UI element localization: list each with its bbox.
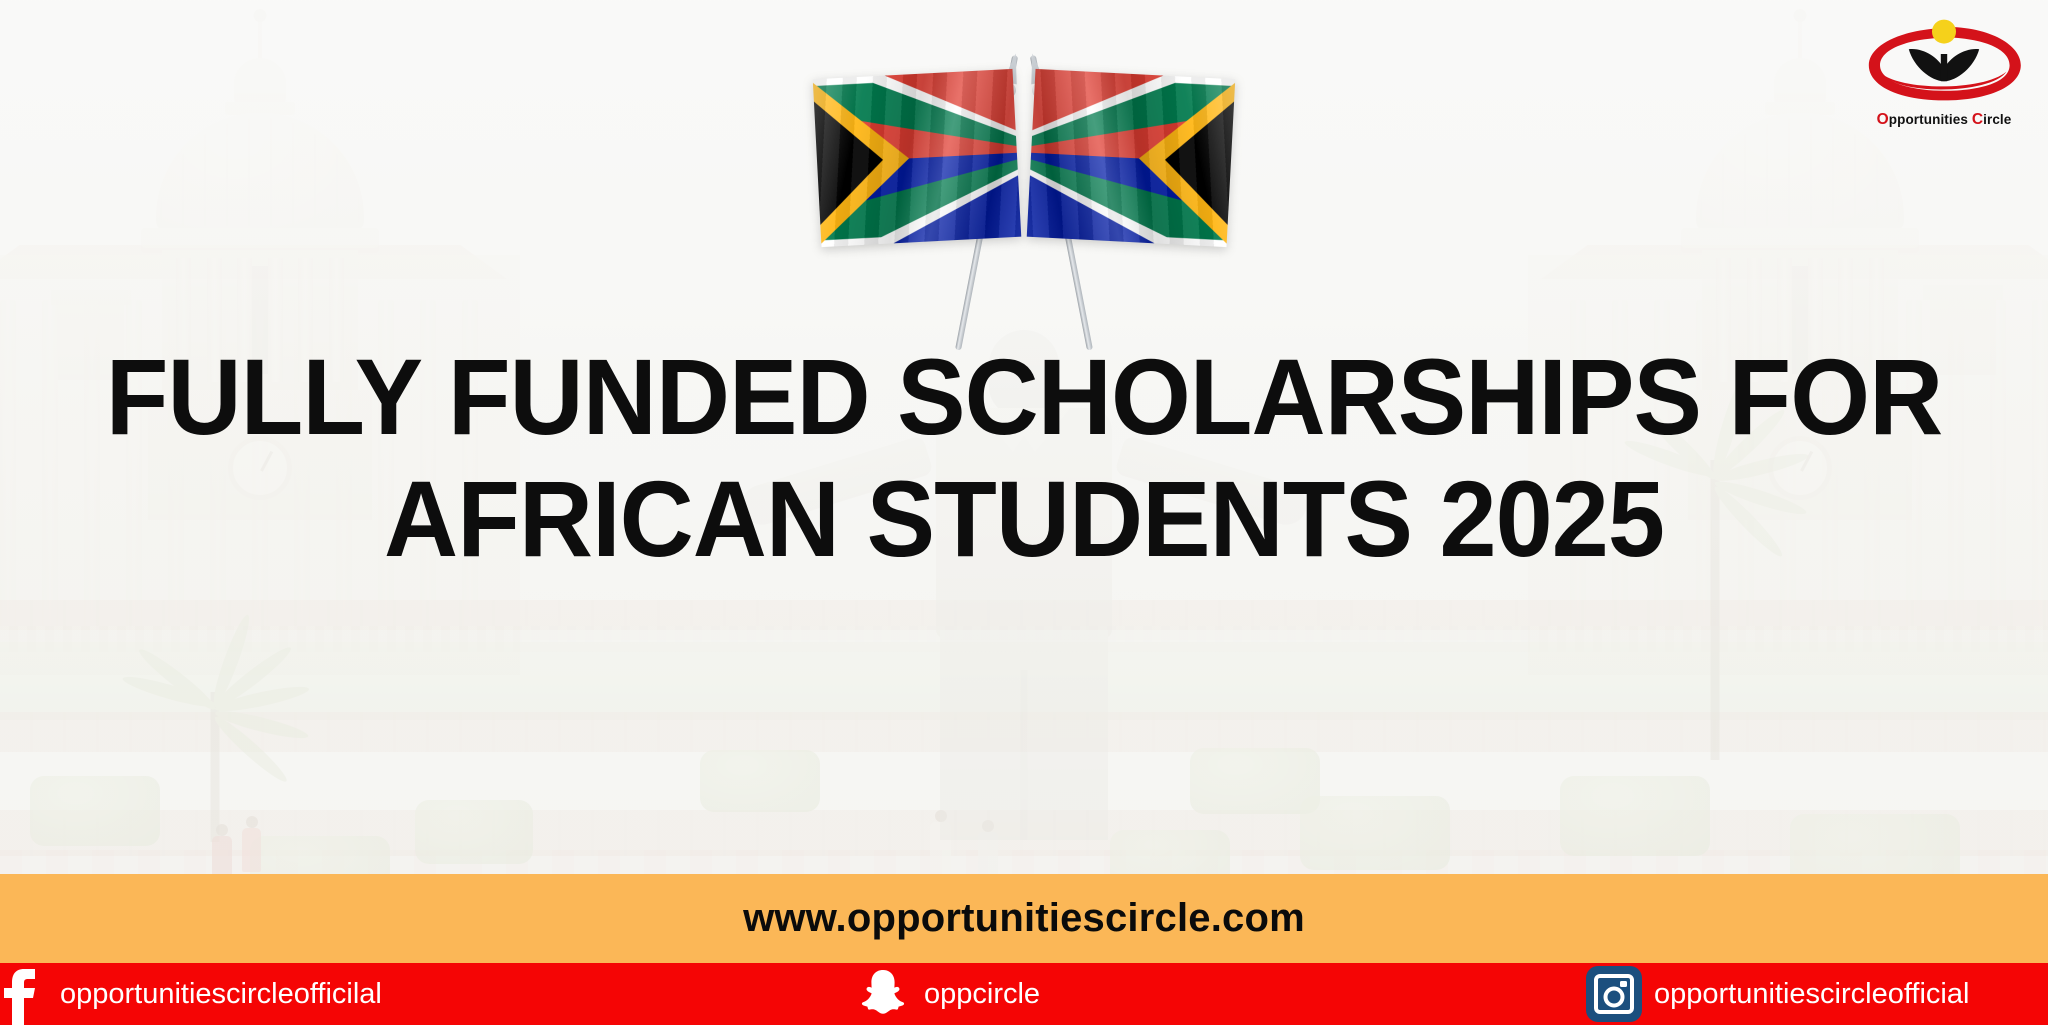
social-media-bar: opportunitiescircleofficilal oppcircle o… (0, 963, 2048, 1025)
social-account-facebook[interactable]: opportunitiescircleofficilal (0, 963, 382, 1025)
instagram-icon[interactable] (1586, 966, 1642, 1022)
logo-initial-c: C (1972, 111, 1983, 128)
south-africa-crossed-flags-icon (809, 22, 1239, 322)
social-account-instagram[interactable]: opportunitiescircleofficial (1586, 963, 1969, 1025)
website-url[interactable]: www.opportunitiescircle.com (743, 896, 1305, 941)
snapchat-icon[interactable] (856, 965, 910, 1023)
logo-wordmark: Opportunities Circle (1864, 111, 2024, 129)
scholarship-poster: Opportunities Circle FULLY FUNDED SCHOLA… (0, 0, 2048, 1025)
south-africa-flag-right (1027, 69, 1236, 247)
palm-tree (150, 692, 280, 842)
facebook-handle[interactable]: opportunitiescircleofficilal (60, 978, 382, 1011)
logo-word-opportunities: pportunities (1889, 112, 1972, 127)
opportunities-circle-logo-icon (1864, 14, 2024, 110)
page-title: FULLY FUNDED SCHOLARSHIPS FOR AFRICAN ST… (51, 336, 1997, 580)
opportunities-circle-logo[interactable]: Opportunities Circle (1864, 14, 2024, 140)
south-africa-flag-left (813, 69, 1022, 247)
facebook-icon[interactable] (0, 963, 46, 1025)
instagram-handle[interactable]: opportunitiescircleofficial (1654, 978, 1969, 1011)
visitor (242, 828, 261, 872)
logo-initial-o: O (1877, 111, 1889, 128)
sun-icon (1932, 20, 1956, 44)
headline-line-2: AFRICAN STUDENTS 2025 (51, 458, 1997, 580)
snapchat-handle[interactable]: oppcircle (924, 978, 1040, 1011)
social-account-snapchat[interactable]: oppcircle (856, 963, 1040, 1025)
headline-line-1: FULLY FUNDED SCHOLARSHIPS FOR (106, 336, 1942, 457)
logo-word-circle: ircle (1983, 112, 2011, 127)
website-url-bar[interactable]: www.opportunitiescircle.com (0, 874, 2048, 963)
